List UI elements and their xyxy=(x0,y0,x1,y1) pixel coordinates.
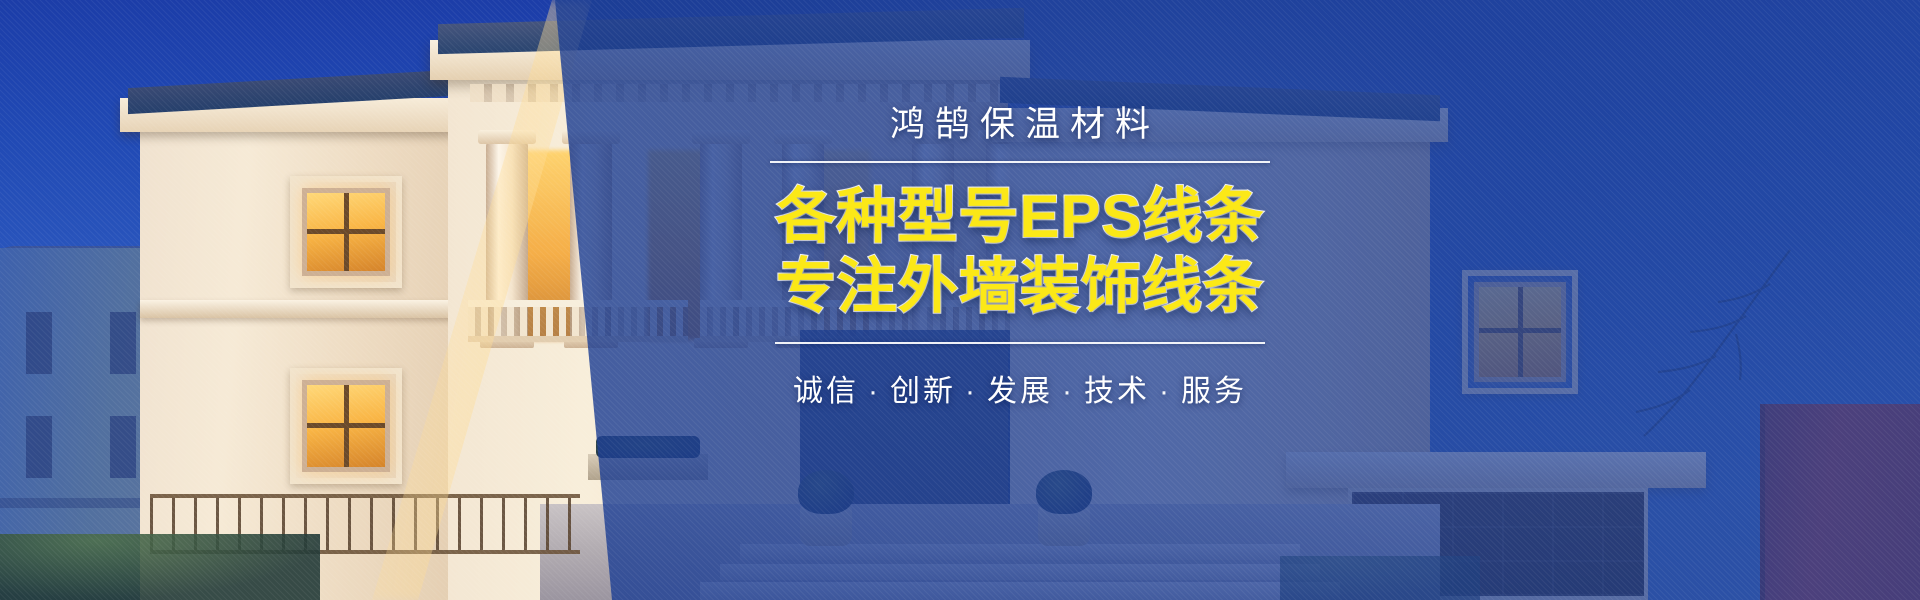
left-tower-string-course xyxy=(140,300,470,318)
lit-window xyxy=(302,188,390,276)
tagline-item: 技术 xyxy=(1084,375,1150,408)
tagline: 诚信·创新·发展·技术·服务 xyxy=(793,366,1247,410)
headline-line-2: 专注外墙装饰线条 xyxy=(776,255,1264,319)
tagline-item: 服务 xyxy=(1181,375,1247,408)
foreground-hedge xyxy=(0,534,320,600)
left-wing-window xyxy=(26,312,52,374)
promo-banner: 鸿鹄保温材料 各种型号EPS线条 专注外墙装饰线条 诚信·创新·发展·技术·服务 xyxy=(0,0,1920,600)
left-wing-window xyxy=(110,312,136,374)
tagline-item: 诚信 xyxy=(793,375,859,408)
tagline-separator: · xyxy=(1150,375,1181,408)
tagline-separator: · xyxy=(956,375,987,408)
tagline-item: 创新 xyxy=(890,375,956,408)
left-wing-window xyxy=(26,416,52,478)
tagline-separator: · xyxy=(859,375,890,408)
lit-window xyxy=(302,380,390,472)
tagline-separator: · xyxy=(1053,375,1084,408)
headline-line-1: 各种型号EPS线条 xyxy=(775,185,1264,249)
divider-bottom xyxy=(775,342,1265,344)
banner-text-block: 鸿鹄保温材料 各种型号EPS线条 专注外墙装饰线条 诚信·创新·发展·技术·服务 xyxy=(700,96,1340,410)
company-subtitle: 鸿鹄保温材料 xyxy=(880,96,1160,147)
divider-top xyxy=(770,161,1270,163)
tagline-item: 发展 xyxy=(987,375,1053,408)
left-wing-window xyxy=(110,416,136,478)
